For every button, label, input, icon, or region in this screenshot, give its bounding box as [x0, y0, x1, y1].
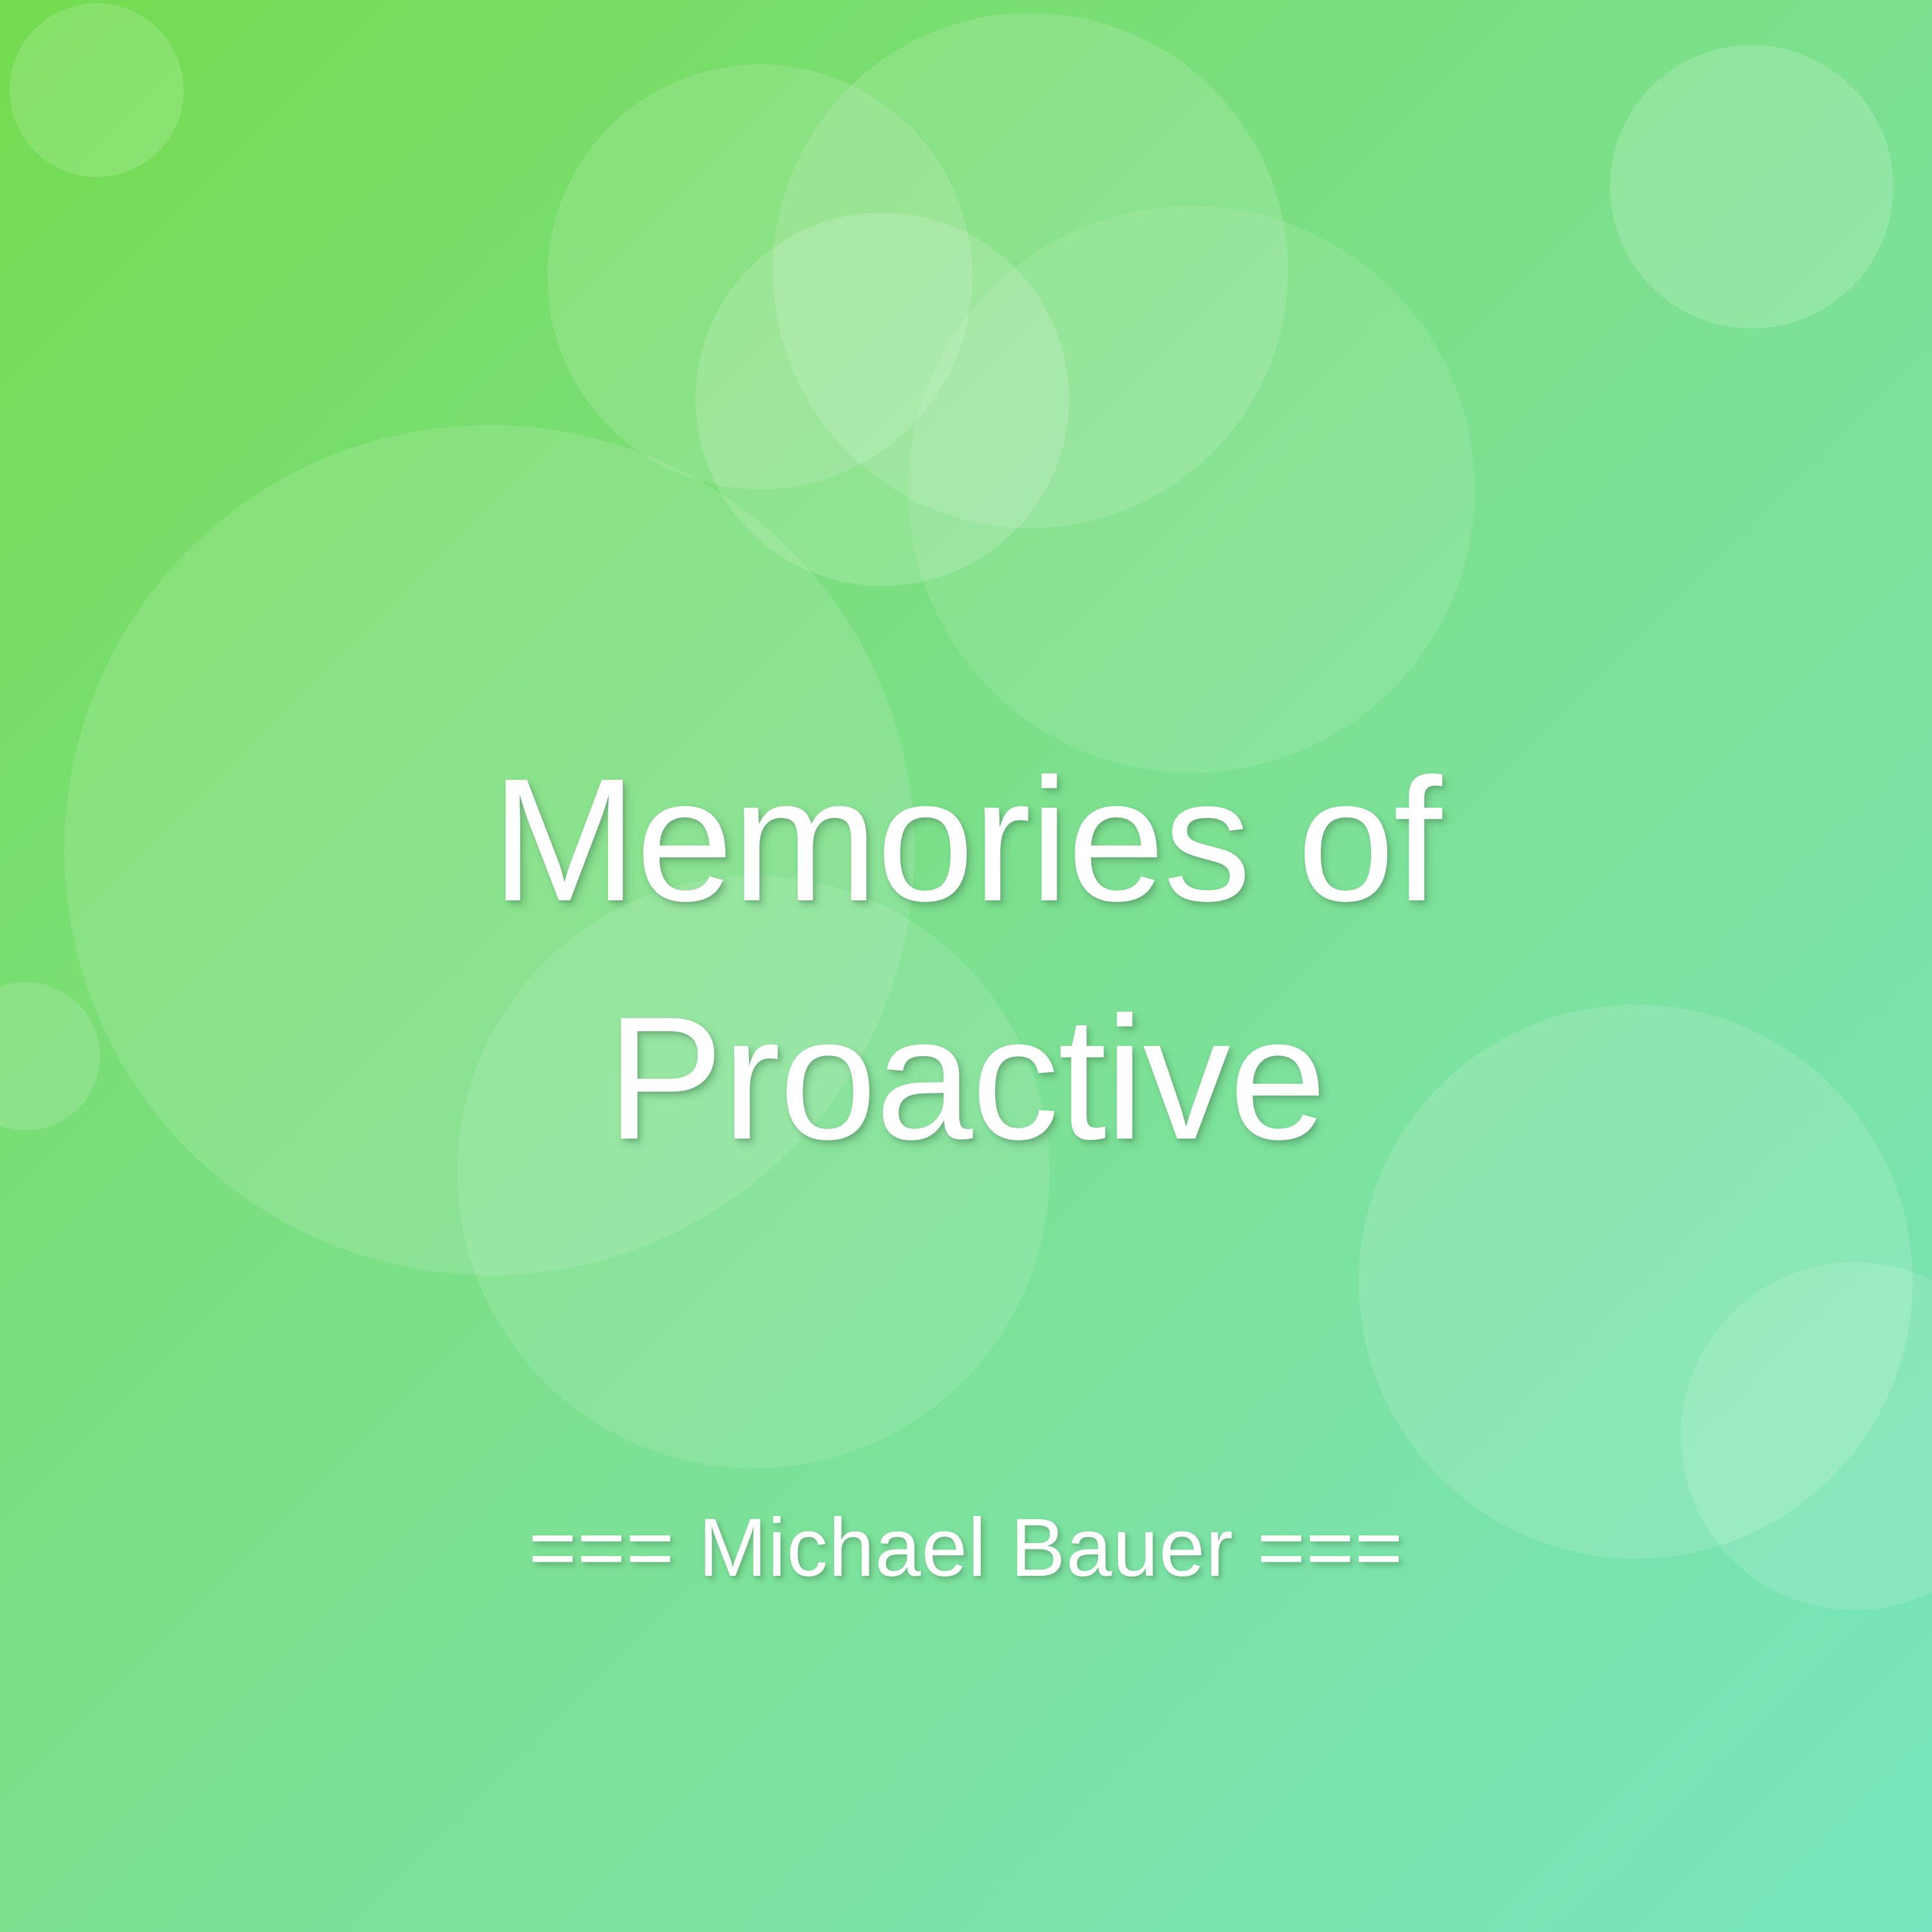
album-cover-art: Memories of Proactive === Michael Bauer …: [0, 0, 1932, 1932]
cover-text-stack: Memories of Proactive === Michael Bauer …: [0, 0, 1932, 1932]
cover-title: Memories of Proactive: [0, 721, 1932, 1198]
cover-byline: === Michael Bauer ===: [0, 1501, 1932, 1595]
